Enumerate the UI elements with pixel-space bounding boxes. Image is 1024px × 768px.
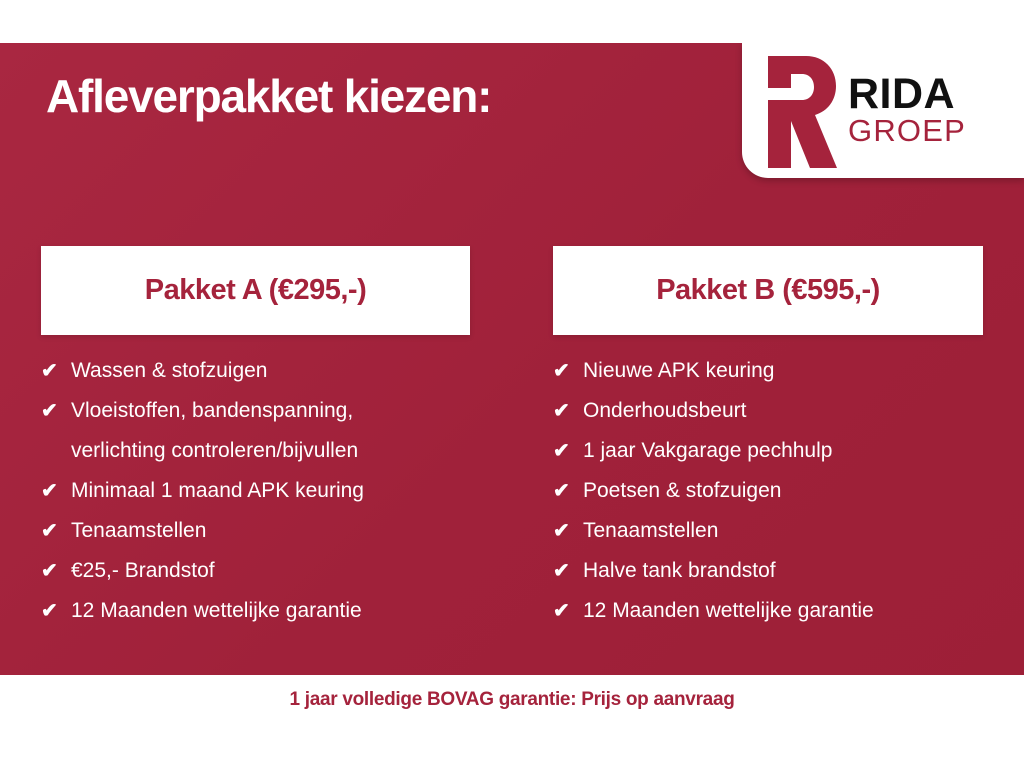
check-icon: ✔ [553,511,583,551]
list-item-label: Wassen & stofzuigen [71,351,470,391]
logo-subname: GROEP [848,117,966,146]
list-item: ✔Tenaamstellen [553,511,983,551]
list-item: ✔€25,- Brandstof [41,551,470,591]
list-item-label: Poetsen & stofzuigen [583,471,983,511]
logo-inner: RIDA GROEP [742,43,1024,178]
package-a-feature-list: ✔Wassen & stofzuigen✔Vloeistoffen, bande… [41,335,470,631]
logo-name: RIDA [848,75,966,115]
slide-root: Afleverpakket kiezen: RIDA GROEP Pakket … [0,0,1024,768]
check-icon: ✔ [41,511,71,551]
rida-r-monogram-icon [758,56,838,168]
list-item-label: 1 jaar Vakgarage pechhulp [583,431,983,471]
check-icon: ✔ [553,551,583,591]
logo-wordmark: RIDA GROEP [848,75,966,145]
list-item: ✔Minimaal 1 maand APK keuring [41,471,470,511]
check-icon: ✔ [41,551,71,591]
package-b-header[interactable]: Pakket B (€595,-) [553,246,983,335]
list-item-label: Minimaal 1 maand APK keuring [71,471,470,511]
check-icon: ✔ [553,391,583,431]
page-title: Afleverpakket kiezen: [46,73,491,119]
package-b-feature-list: ✔Nieuwe APK keuring✔Onderhoudsbeurt✔1 ja… [553,335,983,631]
list-item-label: €25,- Brandstof [71,551,470,591]
footer-bar: 1 jaar volledige BOVAG garantie: Prijs o… [0,675,1024,768]
list-item-label: Tenaamstellen [583,511,983,551]
red-background-panel: Afleverpakket kiezen: RIDA GROEP Pakket … [0,43,1024,675]
check-icon: ✔ [553,431,583,471]
package-column-a: Pakket A (€295,-) ✔Wassen & stofzuigen✔V… [41,246,470,631]
check-icon: ✔ [41,391,71,431]
list-item-label: Onderhoudsbeurt [583,391,983,431]
check-icon: ✔ [553,351,583,391]
list-item-label: Nieuwe APK keuring [583,351,983,391]
package-a-header[interactable]: Pakket A (€295,-) [41,246,470,335]
list-item-label: Halve tank brandstof [583,551,983,591]
list-item: ✔Wassen & stofzuigen [41,351,470,391]
list-item-label: Vloeistoffen, bandenspanning, verlichtin… [71,391,470,471]
list-item: ✔Tenaamstellen [41,511,470,551]
list-item: ✔Onderhoudsbeurt [553,391,983,431]
package-column-b: Pakket B (€595,-) ✔Nieuwe APK keuring✔On… [553,246,983,631]
logo-plate: RIDA GROEP [742,43,1024,178]
package-b-title: Pakket B (€595,-) [656,274,880,307]
list-item: ✔1 jaar Vakgarage pechhulp [553,431,983,471]
list-item: ✔Nieuwe APK keuring [553,351,983,391]
list-item: ✔12 Maanden wettelijke garantie [41,591,470,631]
list-item: ✔12 Maanden wettelijke garantie [553,591,983,631]
list-item: ✔Vloeistoffen, bandenspanning, verlichti… [41,391,470,471]
list-item: ✔Halve tank brandstof [553,551,983,591]
footer-note: 1 jaar volledige BOVAG garantie: Prijs o… [0,689,1024,711]
list-item-label: Tenaamstellen [71,511,470,551]
check-icon: ✔ [553,471,583,511]
check-icon: ✔ [41,351,71,391]
check-icon: ✔ [41,591,71,631]
list-item: ✔Poetsen & stofzuigen [553,471,983,511]
list-item-label: 12 Maanden wettelijke garantie [583,591,983,631]
check-icon: ✔ [41,471,71,511]
package-a-title: Pakket A (€295,-) [145,274,366,307]
list-item-label: 12 Maanden wettelijke garantie [71,591,470,631]
check-icon: ✔ [553,591,583,631]
